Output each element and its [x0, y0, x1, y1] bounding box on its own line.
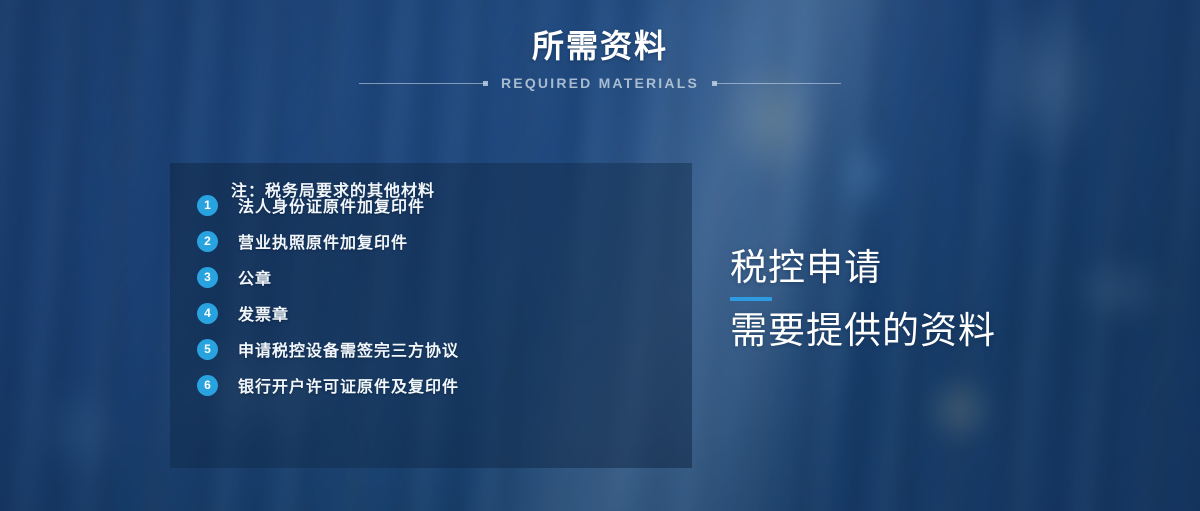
item-label: 公章 [238, 265, 272, 289]
item-number-badge: 1 [197, 195, 218, 216]
page-title: 所需资料 [0, 26, 1200, 66]
banner-stage: 所需资料 REQUIRED MATERIALS 1 法人身份证原件加复印件 2 … [0, 0, 1200, 511]
page-subtitle: REQUIRED MATERIALS [501, 75, 699, 91]
header: 所需资料 REQUIRED MATERIALS [0, 26, 1200, 94]
item-number-badge: 5 [197, 339, 218, 360]
list-item: 2 营业执照原件加复印件 [197, 223, 667, 259]
list-item: 4 发票章 [197, 295, 667, 331]
item-number-badge: 6 [197, 375, 218, 396]
right-heading-divider [730, 297, 772, 301]
item-label: 营业执照原件加复印件 [238, 229, 408, 253]
header-rule-right [713, 83, 841, 84]
header-rule-left [359, 83, 487, 84]
item-number-badge: 2 [197, 231, 218, 252]
item-label: 发票章 [238, 301, 289, 325]
list-item: 6 银行开户许可证原件及复印件 [197, 367, 667, 403]
item-label: 申请税控设备需签完三方协议 [238, 337, 459, 361]
item-number-badge: 3 [197, 267, 218, 288]
item-label: 法人身份证原件加复印件 [238, 193, 425, 217]
right-heading-line-1: 税控申请 [730, 246, 1170, 290]
list-item: 3 公章 [197, 259, 667, 295]
item-number-badge: 4 [197, 303, 218, 324]
list-item: 5 申请税控设备需签完三方协议 [197, 331, 667, 367]
materials-panel: 1 法人身份证原件加复印件 2 营业执照原件加复印件 3 公章 4 发票章 5 … [170, 163, 692, 468]
subtitle-row: REQUIRED MATERIALS [0, 72, 1200, 94]
right-heading-line-2: 需要提供的资料 [730, 309, 1170, 353]
list-item: 1 法人身份证原件加复印件 [197, 187, 667, 223]
item-label: 银行开户许可证原件及复印件 [238, 373, 459, 397]
right-heading-block: 税控申请 需要提供的资料 [730, 246, 1170, 353]
materials-list: 1 法人身份证原件加复印件 2 营业执照原件加复印件 3 公章 4 发票章 5 … [197, 187, 667, 403]
